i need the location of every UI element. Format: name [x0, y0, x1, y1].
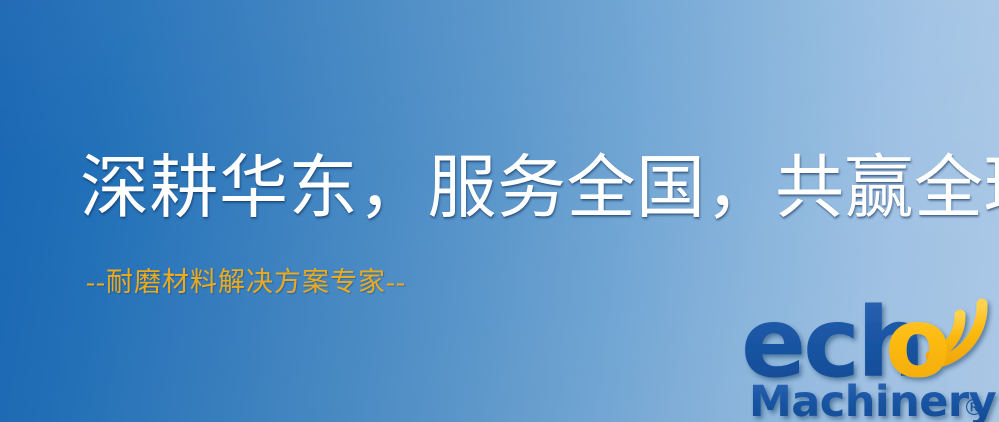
promo-banner: 深耕华东，服务全国，共赢全球 --耐磨材料解决方案专家--: [0, 0, 999, 422]
banner-headline: 深耕华东，服务全国，共赢全球: [80, 150, 960, 226]
logo-tagline: Machinery: [749, 377, 997, 422]
banner-subtitle: --耐磨材料解决方案专家--: [86, 265, 406, 299]
echo-machinery-logo: ech o Machinery ®: [745, 288, 997, 422]
registered-trademark-icon: ®: [963, 396, 985, 421]
